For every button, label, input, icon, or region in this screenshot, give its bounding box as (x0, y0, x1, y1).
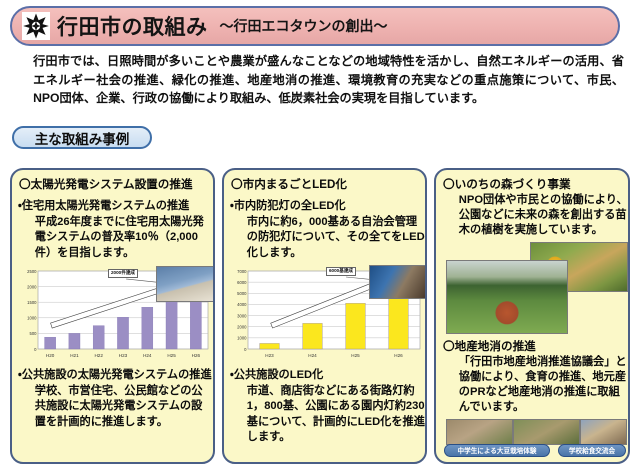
led-item1-body: 市内に約6，000基ある自治会管理の防犯灯について、その全てをLED化します。 (230, 215, 425, 261)
svg-text:H22: H22 (94, 353, 103, 358)
svg-text:H20: H20 (46, 353, 55, 358)
local-produce-photo-group: 中学生による大豆栽培体験 学校給食交流会 (436, 419, 628, 464)
svg-text:4000: 4000 (237, 302, 247, 307)
led-item2-body: 市道、商店街などにある街路灯約1，800基、公園にある園内灯約230基について、… (230, 384, 425, 445)
svg-text:7000: 7000 (237, 269, 247, 274)
svg-text:2000: 2000 (237, 324, 247, 329)
led-chart-wrap: 01000200030004000500060007000H23H24H25H2… (228, 265, 425, 361)
soil-field-photo (446, 419, 513, 445)
panel-led-conversion: 〇市内まるごとLED化 ・市内防犯灯の全LED化 市内に約6，000基ある自治会… (222, 168, 427, 464)
forest-body: NPO団体や市民との協働により、公園などに未来の森を創出する苗木の植樹を実施して… (442, 193, 628, 239)
page-subtitle: ～行田エコタウンの創出～ (220, 16, 388, 36)
led-item2-bullet: ・公共施設のLED化 (230, 368, 425, 383)
caption-school-lunch-exchange: 学校給食交流会 (558, 444, 626, 457)
caption-soybean-experience: 中学生による大豆栽培体験 (444, 444, 550, 457)
harvest-field-photo (513, 419, 580, 445)
svg-text:1000: 1000 (27, 316, 37, 321)
solar-chart-annotation: 2000件達成 (108, 269, 138, 278)
led-panel-heading: 〇市内まるごとLED化 (231, 176, 425, 192)
svg-text:6000: 6000 (237, 280, 247, 285)
page-title: 行田市の取組み (57, 11, 208, 41)
panel-solar-power: 〇太陽光発電システム設置の推進 ・住宅用太陽光発電システムの推進 平成26年度ま… (10, 168, 215, 464)
svg-text:H21: H21 (70, 353, 79, 358)
section-heading-chip: 主な取組み事例 (12, 126, 152, 149)
solar-panel-heading: 〇太陽光発電システム設置の推進 (19, 176, 213, 192)
svg-text:H23: H23 (265, 353, 274, 358)
svg-text:1000: 1000 (237, 336, 247, 341)
section-heading-label: 主な取組み事例 (35, 128, 130, 148)
school-lunch-photo (580, 419, 627, 445)
solar-item2-bullet: ・公共施設の太陽光発電システムの推進 (18, 368, 213, 383)
svg-text:2000: 2000 (27, 284, 37, 289)
svg-text:0: 0 (244, 347, 247, 352)
led-item1-bullet: ・市内防犯灯の全LED化 (230, 199, 425, 214)
svg-text:1500: 1500 (27, 300, 37, 305)
solar-panel-house-photo (156, 266, 214, 302)
tree-planting-group-photo (446, 260, 568, 334)
svg-text:H24: H24 (143, 353, 152, 358)
forest-heading: 〇いのちの森づくり事業 (443, 176, 628, 192)
solar-item1-bullet: ・住宅用太陽光発電システムの推進 (18, 199, 213, 214)
svg-text:H26: H26 (192, 353, 201, 358)
svg-text:H26: H26 (394, 353, 403, 358)
local-produce-body: 「行田市地産地消推進協議会」と協働により、食育の推進、地元産のPRなど地産地消の… (442, 355, 628, 416)
solar-item1-body: 平成26年度までに住宅用太陽光発電システムの普及率10％（2,000件）を目指し… (18, 215, 213, 261)
svg-text:H23: H23 (119, 353, 128, 358)
svg-text:5000: 5000 (237, 291, 247, 296)
svg-text:2500: 2500 (27, 269, 37, 274)
svg-text:H24: H24 (308, 353, 317, 358)
intro-text: 行田市では、日照時間が多いことや農業が盛んなことなどの地域特性を活かし、自然エネ… (16, 52, 624, 108)
gyoda-city-emblem-icon (22, 12, 50, 40)
header-banner: 行田市の取組み ～行田エコタウンの創出～ (10, 6, 620, 46)
solar-chart-wrap: 05001000150020002500H20H21H22H23H24H25H2… (16, 265, 213, 361)
local-produce-heading: 〇地産地消の推進 (443, 338, 628, 354)
solar-item2-body: 学校、市営住宅、公民館などの公共施設に太陽光発電システムの設置を計画的に推進しま… (18, 384, 213, 430)
intro-paragraph: 行田市では、日照時間が多いことや農業が盛んなことなどの地域特性を活かし、自然エネ… (16, 52, 624, 108)
led-chart-annotation: 6000基達成 (326, 267, 356, 276)
svg-text:500: 500 (30, 331, 38, 336)
panel-forest-and-local-produce: 〇いのちの森づくり事業 NPO団体や市民との協働により、公園などに未来の森を創出… (434, 168, 630, 464)
svg-text:H25: H25 (167, 353, 176, 358)
svg-text:0: 0 (34, 347, 37, 352)
forest-photo-group (436, 242, 628, 336)
svg-text:H25: H25 (351, 353, 360, 358)
led-streetlight-install-photo (369, 265, 426, 299)
svg-text:3000: 3000 (237, 313, 247, 318)
